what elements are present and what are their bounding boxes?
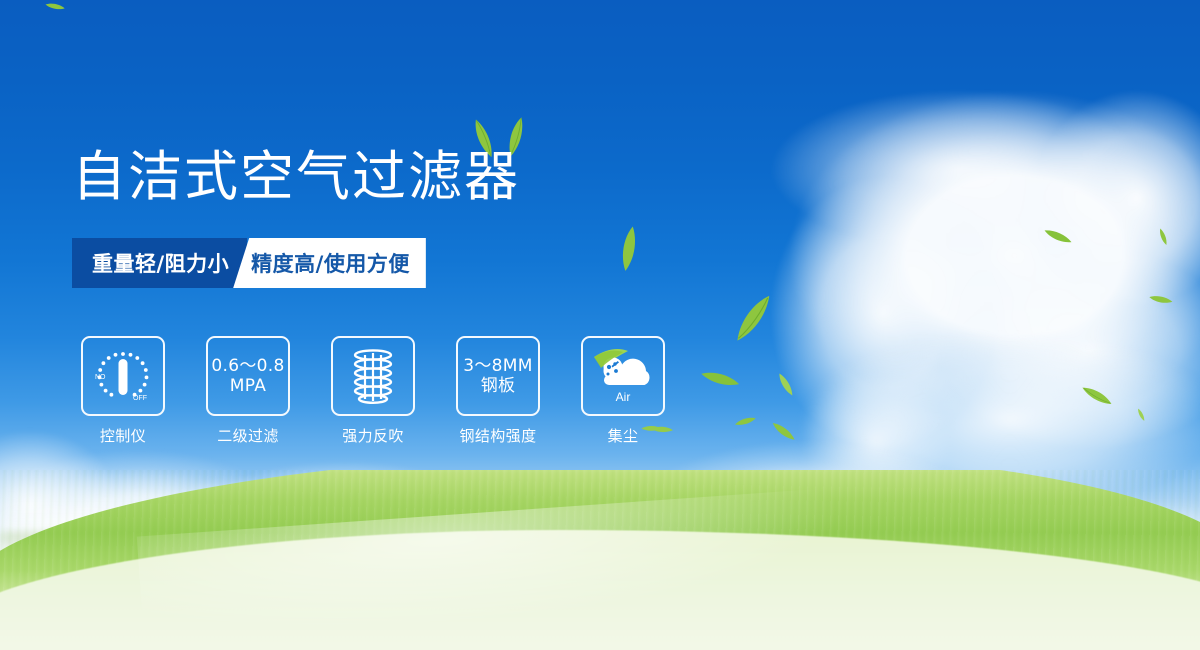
cloud-air-icon: Air xyxy=(590,345,656,407)
floating-leaf-icon xyxy=(732,409,758,434)
pressure-range: 0.6～0.8 xyxy=(211,356,284,376)
floating-leaf-icon xyxy=(1040,221,1076,252)
steel-material: 钢板 xyxy=(463,376,532,396)
floating-leaf-icon xyxy=(773,370,798,400)
feature-box-controller: NO OFF xyxy=(81,336,165,416)
product-banner: 自洁式空气过滤器 重量轻/阻力小 精度高/使用方便 xyxy=(0,0,1200,650)
floating-leaf-icon xyxy=(721,285,782,350)
feature-label-controller: 控制仪 xyxy=(100,425,146,446)
feature-box-steel: 3～8MM 钢板 xyxy=(456,336,540,416)
feature-label-pressure: 二级过滤 xyxy=(217,425,279,446)
steel-thickness-icon: 3～8MM 钢板 xyxy=(463,356,532,396)
feature-item-controller[interactable]: NO OFF 控制仪 xyxy=(81,336,165,446)
subtitle-left-tag: 重量轻/阻力小 xyxy=(72,238,247,288)
feature-item-pressure[interactable]: 0.6～0.8 MPA 二级过滤 xyxy=(206,336,290,446)
dial-off-label: OFF xyxy=(133,395,147,402)
feature-item-dust[interactable]: Air 集尘 xyxy=(581,336,665,446)
floating-leaf-icon xyxy=(42,0,68,21)
subtitle-bar: 重量轻/阻力小 精度高/使用方便 xyxy=(72,238,462,288)
grass-field xyxy=(0,470,1200,650)
feature-box-backblow xyxy=(331,336,415,416)
dial-control-knob-icon: NO OFF xyxy=(92,346,154,406)
feature-box-dust: Air xyxy=(581,336,665,416)
floating-leaf-icon xyxy=(697,359,743,396)
floating-leaf-icon xyxy=(613,224,642,273)
floating-leaf-icon xyxy=(1146,284,1176,315)
floating-leaf-icon xyxy=(767,416,799,447)
feature-label-steel: 钢结构强度 xyxy=(459,425,536,446)
feature-box-pressure: 0.6～0.8 MPA xyxy=(206,336,290,416)
pressure-value-icon: 0.6～0.8 MPA xyxy=(211,356,284,396)
floating-leaf-icon xyxy=(1130,405,1152,425)
feature-label-backblow: 强力反吹 xyxy=(342,425,404,446)
subtitle-right-tag: 精度高/使用方便 xyxy=(233,238,426,288)
feature-item-backblow[interactable]: 强力反吹 xyxy=(331,336,415,446)
steel-thickness-range: 3～8MM xyxy=(463,356,532,376)
dial-on-label: NO xyxy=(95,374,106,381)
cloud-large-right xyxy=(770,90,1200,450)
pressure-unit: MPA xyxy=(211,376,284,396)
floating-leaf-icon xyxy=(1150,225,1176,249)
page-title: 自洁式空气过滤器 xyxy=(72,146,520,208)
feature-item-steel[interactable]: 3～8MM 钢板 钢结构强度 xyxy=(456,336,540,446)
feature-list: NO OFF 控制仪 0.6～0.8 MPA 二级过滤 xyxy=(81,336,665,446)
feature-label-dust: 集尘 xyxy=(608,425,639,446)
pleated-filter-cartridge-icon xyxy=(345,347,401,405)
floating-leaf-icon xyxy=(1073,370,1122,420)
air-label: Air xyxy=(616,390,631,404)
